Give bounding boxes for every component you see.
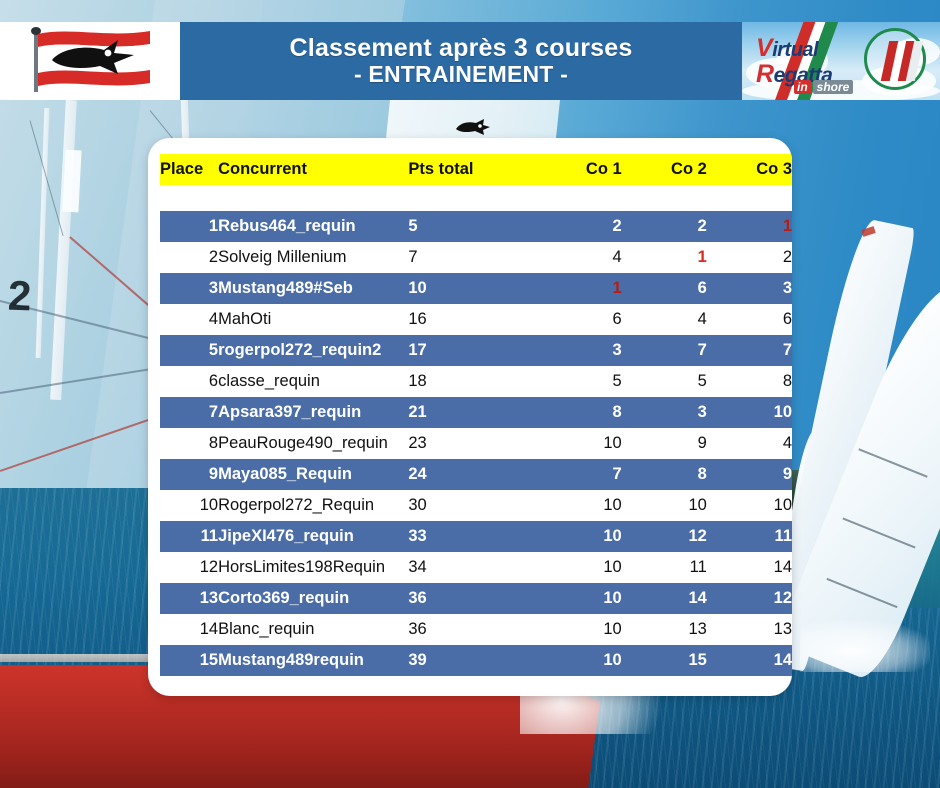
column-header-co1: Co 1 <box>537 154 622 185</box>
cell-pts-total: 18 <box>408 366 536 397</box>
cell-co3: 4 <box>707 428 792 459</box>
cell-pts-total: 16 <box>408 304 536 335</box>
cell-co3: 10 <box>707 490 792 521</box>
cell-co2: 11 <box>622 552 707 583</box>
cell-co1: 10 <box>537 428 622 459</box>
table-spacer-row <box>160 185 792 211</box>
cell-concurrent: rogerpol272_requin2 <box>218 335 408 366</box>
cell-co3: 2 <box>707 242 792 273</box>
cell-co3: 14 <box>707 645 792 676</box>
cell-co2: 2 <box>622 211 707 242</box>
table-body: 1Rebus464_requin52212Solveig Millenium74… <box>160 185 792 676</box>
column-header-pts-total: Pts total <box>408 154 536 185</box>
club-logo <box>0 22 180 100</box>
ranking-table: Place Concurrent Pts total Co 1 Co 2 Co … <box>160 154 792 676</box>
cell-co1: 10 <box>537 614 622 645</box>
cell-concurrent: Mustang489requin <box>218 645 408 676</box>
cell-co1: 10 <box>537 490 622 521</box>
cell-pts-total: 36 <box>408 614 536 645</box>
cell-co2: 3 <box>622 397 707 428</box>
table-row: 3Mustang489#Seb10163 <box>160 273 792 304</box>
cell-place: 10 <box>160 490 218 521</box>
table-row: 6classe_requin18558 <box>160 366 792 397</box>
cell-co1: 5 <box>537 366 622 397</box>
cell-pts-total: 33 <box>408 521 536 552</box>
cell-co3: 12 <box>707 583 792 614</box>
cell-place: 2 <box>160 242 218 273</box>
cell-co1: 2 <box>537 211 622 242</box>
tagline-shore: shore <box>813 80 854 94</box>
cell-co2: 6 <box>622 273 707 304</box>
water-spray <box>800 620 930 672</box>
cell-co2: 12 <box>622 521 707 552</box>
title-bar: Classement après 3 courses - ENTRAINEMEN… <box>180 22 742 100</box>
cell-place: 15 <box>160 645 218 676</box>
cell-co2: 14 <box>622 583 707 614</box>
cell-place: 3 <box>160 273 218 304</box>
cell-pts-total: 30 <box>408 490 536 521</box>
column-header-co3: Co 3 <box>707 154 792 185</box>
cell-co3: 1 <box>707 211 792 242</box>
best-score-value: 1 <box>698 248 707 266</box>
cell-co2: 8 <box>622 459 707 490</box>
table-row: 5rogerpol272_requin217377 <box>160 335 792 366</box>
brand-word-virtual: Virtual <box>756 34 832 63</box>
cell-co3: 9 <box>707 459 792 490</box>
table-row: 9Maya085_Requin24789 <box>160 459 792 490</box>
cell-place: 7 <box>160 397 218 428</box>
cell-concurrent: Mustang489#Seb <box>218 273 408 304</box>
cell-concurrent: Blanc_requin <box>218 614 408 645</box>
cell-pts-total: 10 <box>408 273 536 304</box>
best-score-value: 1 <box>613 279 622 297</box>
cell-co2: 9 <box>622 428 707 459</box>
cell-concurrent: classe_requin <box>218 366 408 397</box>
cell-co1: 10 <box>537 521 622 552</box>
cell-place: 11 <box>160 521 218 552</box>
cell-concurrent: Apsara397_requin <box>218 397 408 428</box>
cell-co1: 7 <box>537 459 622 490</box>
brand-rest-virtual: irtual <box>772 39 818 61</box>
table-header-row: Place Concurrent Pts total Co 1 Co 2 Co … <box>160 154 792 185</box>
cell-co1: 3 <box>537 335 622 366</box>
table-row: 7Apsara397_requin218310 <box>160 397 792 428</box>
cell-pts-total: 17 <box>408 335 536 366</box>
best-score-value: 1 <box>783 217 792 235</box>
cell-concurrent: Rogerpol272_Requin <box>218 490 408 521</box>
cell-pts-total: 24 <box>408 459 536 490</box>
table-row: 10Rogerpol272_Requin30101010 <box>160 490 792 521</box>
table-row: 14Blanc_requin36101313 <box>160 614 792 645</box>
table-header: Place Concurrent Pts total Co 1 Co 2 Co … <box>160 154 792 185</box>
table-row: 8PeauRouge490_requin231094 <box>160 428 792 459</box>
cell-place: 6 <box>160 366 218 397</box>
cell-co1: 1 <box>537 273 622 304</box>
cell-concurrent: MahOti <box>218 304 408 335</box>
cell-concurrent: Solveig Millenium <box>218 242 408 273</box>
cell-co1: 10 <box>537 645 622 676</box>
page-subtitle: - ENTRAINEMENT - <box>354 62 568 88</box>
cell-pts-total: 7 <box>408 242 536 273</box>
cell-co3: 13 <box>707 614 792 645</box>
cell-pts-total: 5 <box>408 211 536 242</box>
cell-co3: 8 <box>707 366 792 397</box>
cell-co1: 8 <box>537 397 622 428</box>
cell-co1: 10 <box>537 583 622 614</box>
ranking-card: Place Concurrent Pts total Co 1 Co 2 Co … <box>148 138 792 696</box>
table-row: 12HorsLimites198Requin34101114 <box>160 552 792 583</box>
table-row: 4MahOti16646 <box>160 304 792 335</box>
brand-tagline: inshore <box>794 80 853 94</box>
table-row: 2Solveig Millenium7412 <box>160 242 792 273</box>
cell-place: 12 <box>160 552 218 583</box>
cell-place: 5 <box>160 335 218 366</box>
cell-co2: 15 <box>622 645 707 676</box>
cell-concurrent: Corto369_requin <box>218 583 408 614</box>
cell-pts-total: 21 <box>408 397 536 428</box>
ranking-table-wrapper: Place Concurrent Pts total Co 1 Co 2 Co … <box>160 154 792 676</box>
cell-place: 1 <box>160 211 218 242</box>
table-row: 15Mustang489requin39101514 <box>160 645 792 676</box>
virtual-regatta-sail-icon <box>864 28 926 90</box>
cell-co3: 14 <box>707 552 792 583</box>
cell-pts-total: 36 <box>408 583 536 614</box>
cell-co3: 3 <box>707 273 792 304</box>
sail-number: 2 <box>7 272 32 321</box>
cell-place: 8 <box>160 428 218 459</box>
cell-co2: 10 <box>622 490 707 521</box>
cell-place: 14 <box>160 614 218 645</box>
cell-co2: 13 <box>622 614 707 645</box>
cell-co3: 7 <box>707 335 792 366</box>
cell-co1: 6 <box>537 304 622 335</box>
brand-cap-v: V <box>756 34 772 62</box>
cell-concurrent: PeauRouge490_requin <box>218 428 408 459</box>
column-header-place: Place <box>160 154 218 185</box>
table-row: 1Rebus464_requin5221 <box>160 211 792 242</box>
shark-silhouette-icon <box>454 117 492 137</box>
cell-place: 9 <box>160 459 218 490</box>
cell-concurrent: Maya085_Requin <box>218 459 408 490</box>
cell-concurrent: HorsLimites198Requin <box>218 552 408 583</box>
column-header-concurrent: Concurrent <box>218 154 408 185</box>
tagline-in: in <box>794 80 811 94</box>
header-banner: Classement après 3 courses - ENTRAINEMEN… <box>0 22 940 100</box>
cell-pts-total: 23 <box>408 428 536 459</box>
shark-flag-icon <box>0 22 180 100</box>
cell-co2: 1 <box>622 242 707 273</box>
brand-cap-r: R <box>756 60 774 88</box>
cell-concurrent: JipeXI476_requin <box>218 521 408 552</box>
cell-co3: 11 <box>707 521 792 552</box>
cell-co1: 4 <box>537 242 622 273</box>
cell-concurrent: Rebus464_requin <box>218 211 408 242</box>
cell-co2: 5 <box>622 366 707 397</box>
cell-place: 13 <box>160 583 218 614</box>
cell-co3: 6 <box>707 304 792 335</box>
page-title: Classement après 3 courses <box>290 34 633 62</box>
sail-batten <box>62 150 81 213</box>
virtual-regatta-logo: Virtual Regatta inshore <box>742 22 940 100</box>
column-header-co2: Co 2 <box>622 154 707 185</box>
cell-co2: 4 <box>622 304 707 335</box>
cell-pts-total: 39 <box>408 645 536 676</box>
cell-co3: 10 <box>707 397 792 428</box>
table-row: 13Corto369_requin36101412 <box>160 583 792 614</box>
table-row: 11JipeXI476_requin33101211 <box>160 521 792 552</box>
cell-place: 4 <box>160 304 218 335</box>
cell-co2: 7 <box>622 335 707 366</box>
cell-co1: 10 <box>537 552 622 583</box>
cell-pts-total: 34 <box>408 552 536 583</box>
